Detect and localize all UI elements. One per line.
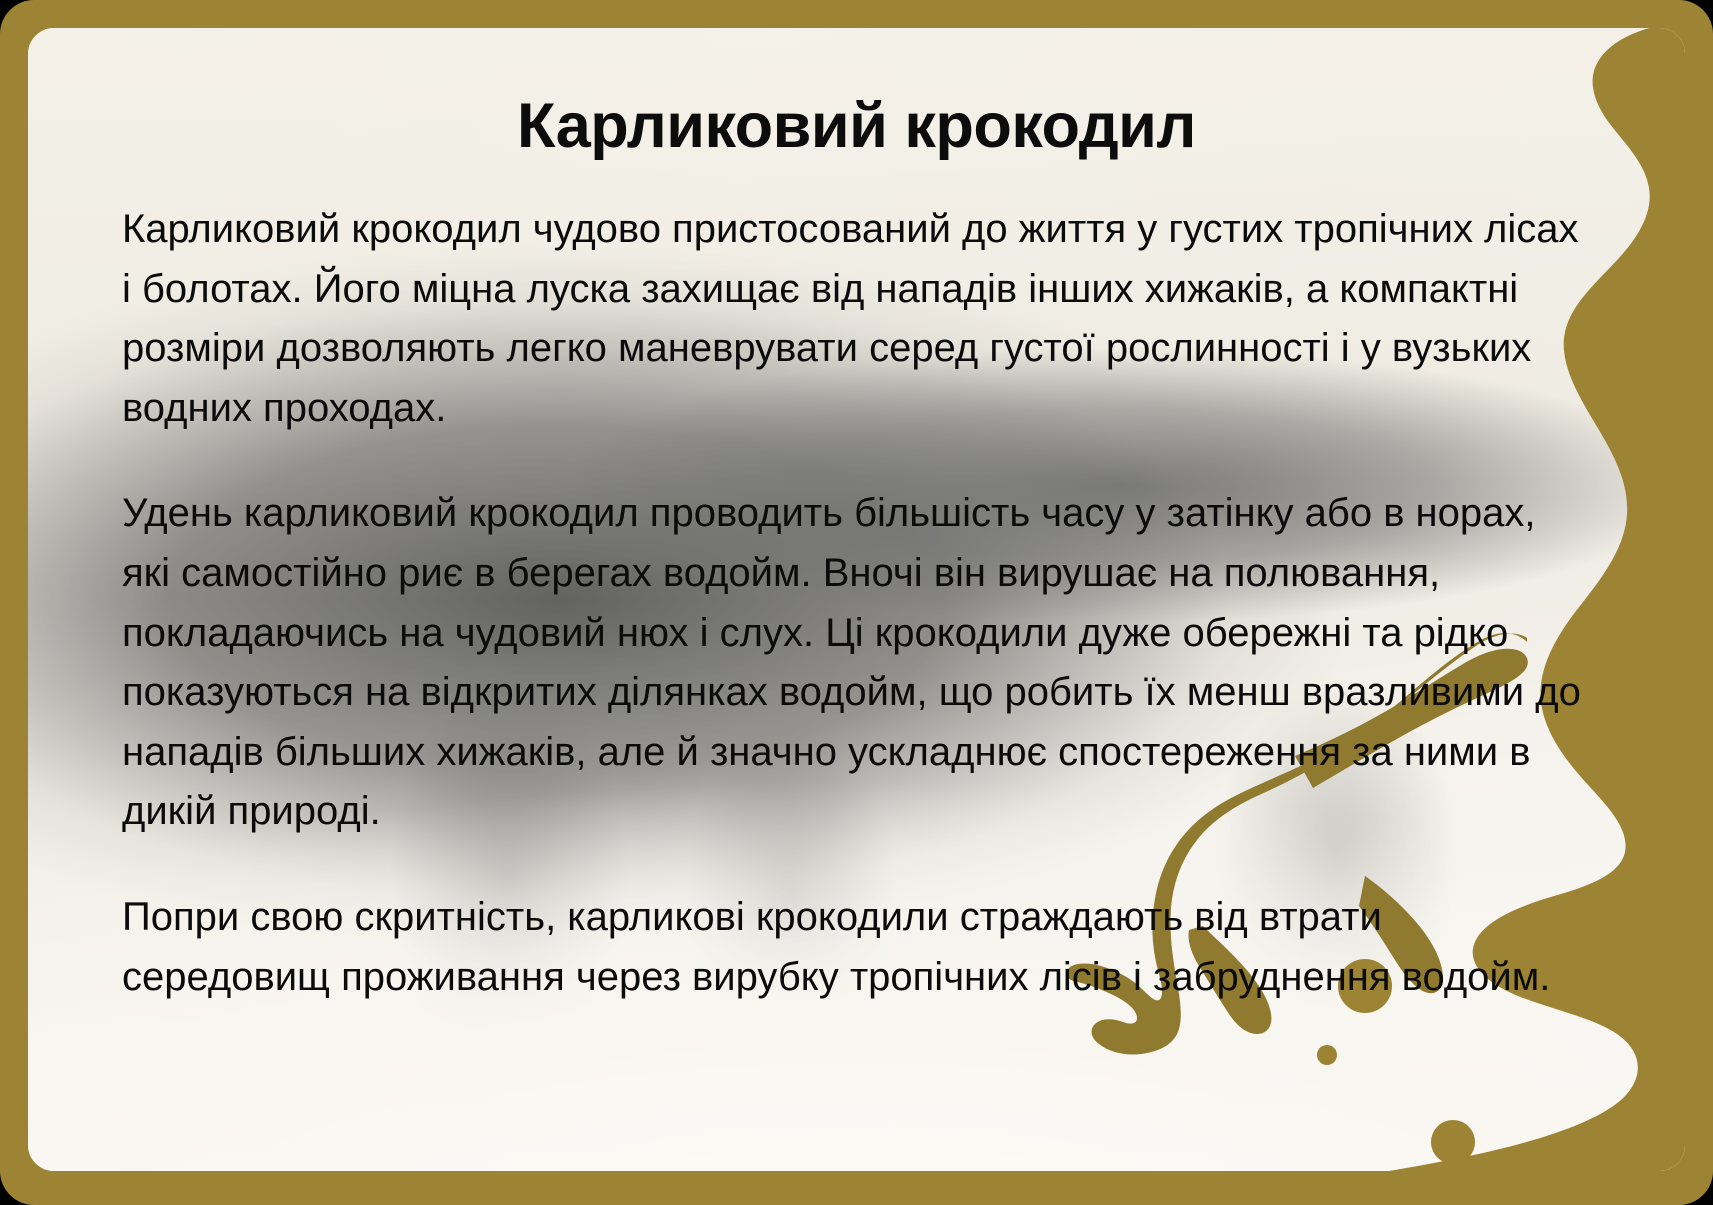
page-title: Карликовий крокодил: [88, 90, 1625, 162]
poster-root: Карликовий крокодил Карликовий крокодил …: [0, 0, 1713, 1205]
paragraph-1: Карликовий крокодил чудово пристосований…: [88, 200, 1625, 438]
paragraph-3: Попри свою скритність, карликові крокоди…: [88, 888, 1625, 1007]
paragraph-2: Удень карликовий крокодил проводить біль…: [88, 484, 1625, 842]
card-content: Карликовий крокодил Карликовий крокодил …: [28, 28, 1685, 1171]
content-card: Карликовий крокодил Карликовий крокодил …: [28, 28, 1685, 1171]
